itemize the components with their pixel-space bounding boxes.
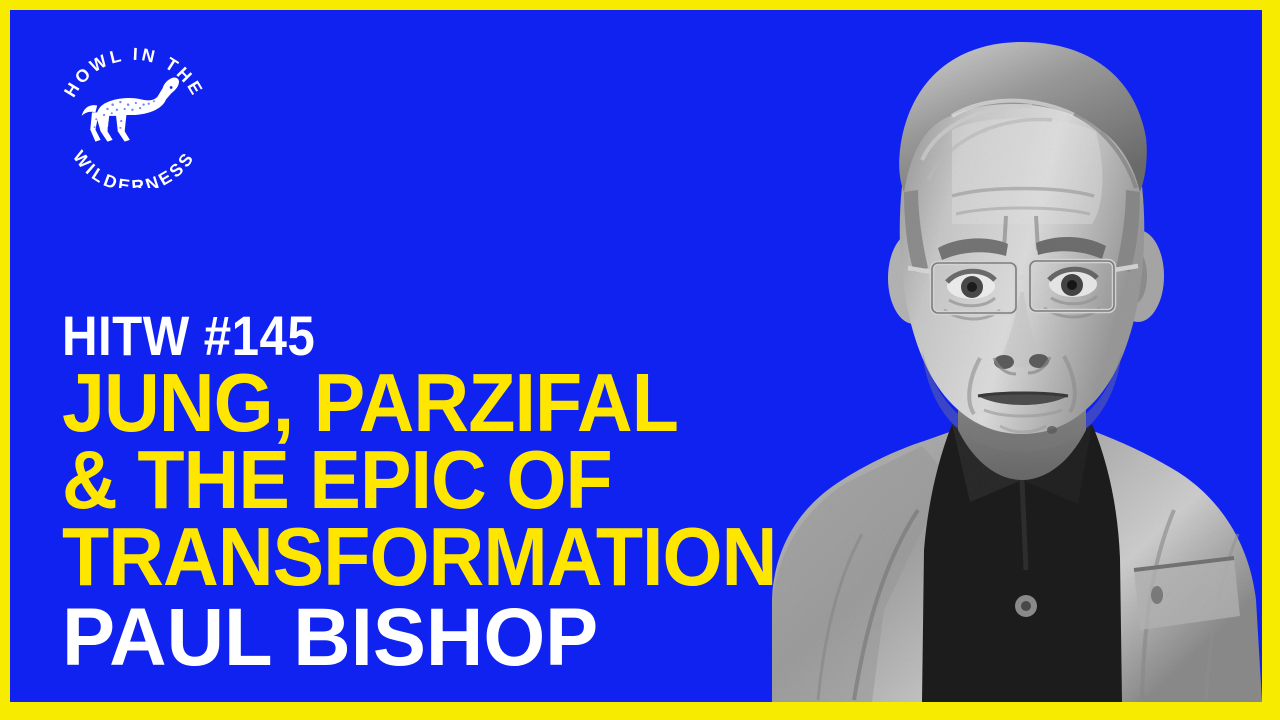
thumbnail-text-block: HITW #145 JUNG, PARZIFAL & THE EPIC OF T… (62, 310, 1072, 677)
speaker-name: PAUL BISHOP (62, 599, 1042, 677)
channel-logo: HOWL IN THE WILDERNESS (48, 38, 220, 188)
logo-bottom-arc-text: WILDERNESS (69, 147, 199, 188)
svg-text:WILDERNESS: WILDERNESS (69, 147, 199, 188)
howling-wolf-icon (82, 77, 179, 141)
svg-text:HOWL IN THE: HOWL IN THE (60, 44, 208, 101)
youtube-thumbnail: HOWL IN THE WILDERNESS (0, 0, 1280, 720)
title-line-3: TRANSFORMATION (62, 518, 1001, 595)
logo-top-arc-text: HOWL IN THE (60, 44, 208, 101)
title-line-1: JUNG, PARZIFAL (62, 364, 1001, 441)
title-line-2: & THE EPIC OF (62, 441, 1001, 518)
episode-number-tag: HITW #145 (62, 310, 951, 362)
thumbnail-canvas: HOWL IN THE WILDERNESS (10, 10, 1262, 702)
